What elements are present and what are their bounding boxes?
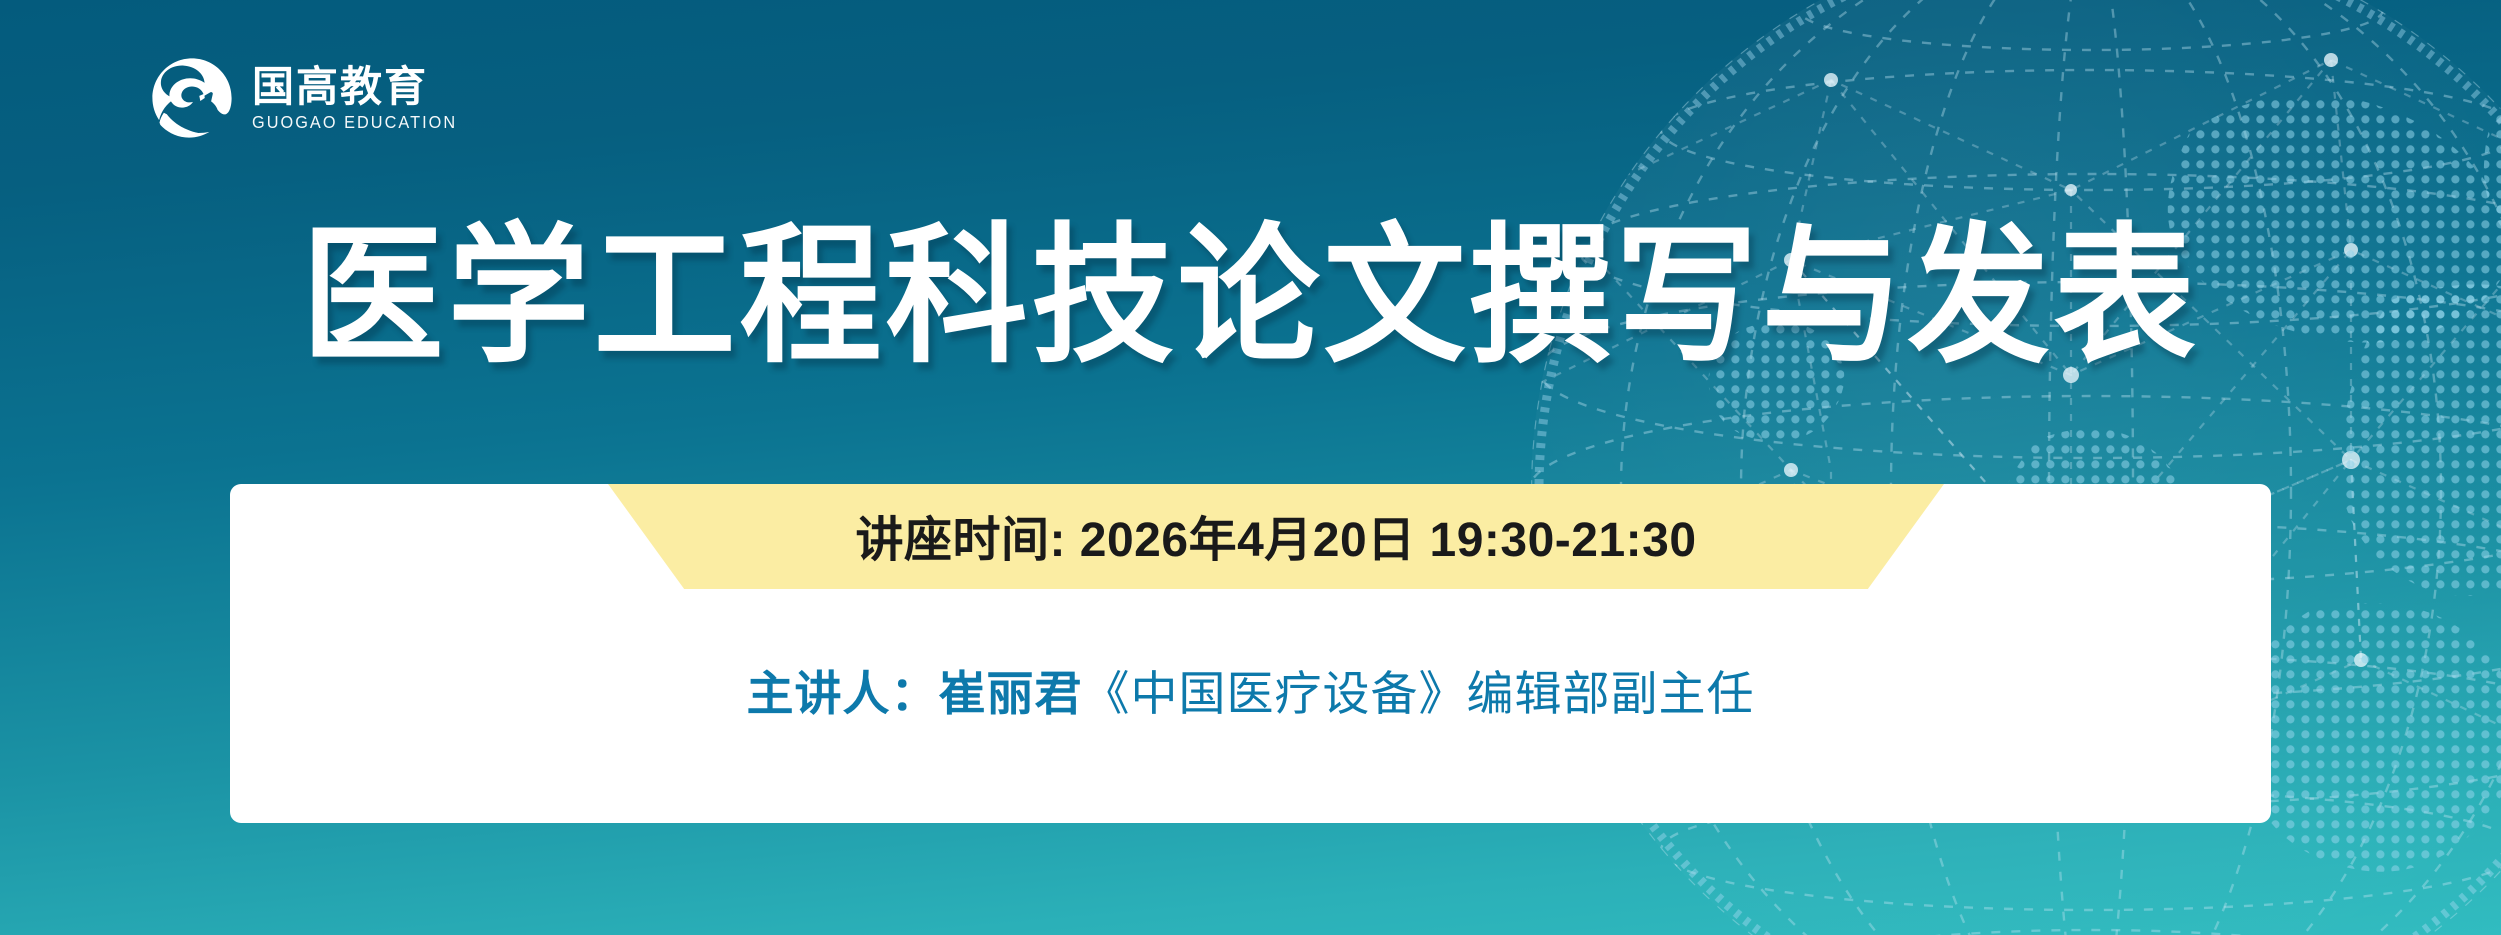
page-title-text: 医学工程科技论文撰写与发表 <box>302 222 2200 373</box>
speaker-line: 主讲人：崔丽君《中国医疗设备》编辑部副主任 <box>230 655 2271 724</box>
brand-logo: 国高教育 GUOGAO EDUCATION <box>148 54 473 142</box>
webinar-banner: 国高教育 GUOGAO EDUCATION 医学工程科技论文撰写与发表 讲座时间… <box>0 0 2501 935</box>
lecture-time-ribbon: 讲座时间: 2026年4月20日 19:30-21:30 <box>608 484 1944 589</box>
page-title: 医学工程科技论文撰写与发表 <box>0 222 2501 364</box>
speaker-detail: 《中国医疗设备》编辑部副主任 <box>1083 667 1755 720</box>
brand-name-cn: 国高教育 <box>252 64 473 109</box>
swan-circle-logo-icon <box>148 54 236 142</box>
speaker-label: 主讲人：崔丽君 <box>747 667 1083 720</box>
brand-name-en: GUOGAO EDUCATION <box>252 113 457 132</box>
lecture-time-text: 讲座时间: 2026年4月20日 19:30-21:30 <box>608 484 1944 589</box>
